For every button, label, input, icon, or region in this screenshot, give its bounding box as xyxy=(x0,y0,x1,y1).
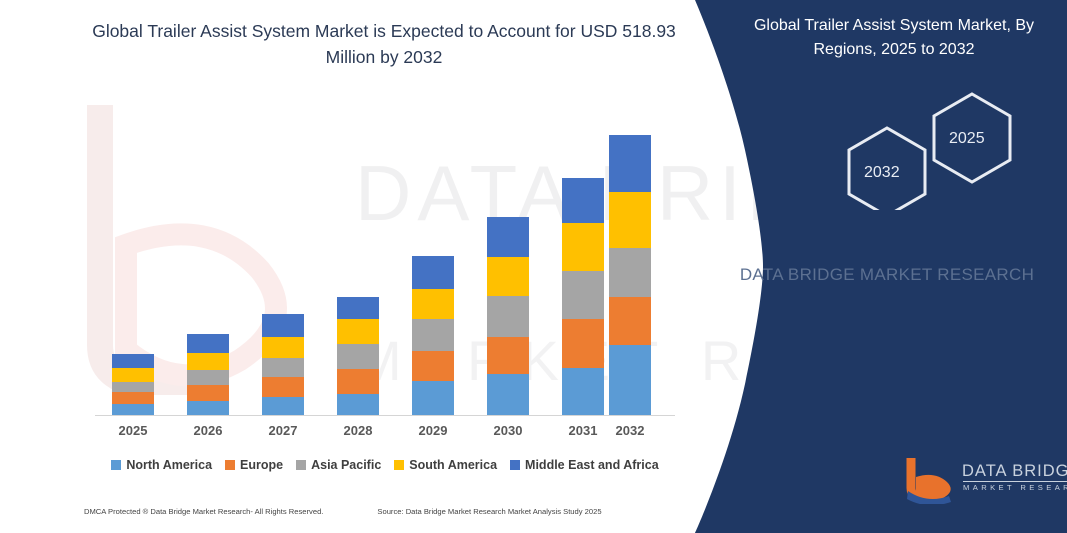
bar-segment[interactable] xyxy=(337,369,379,394)
legend-swatch xyxy=(225,460,235,470)
bar-segment[interactable] xyxy=(562,271,604,319)
bar-segment[interactable] xyxy=(112,354,154,368)
x-axis-tick: 2032 xyxy=(598,423,662,438)
bar-segment[interactable] xyxy=(187,401,229,416)
bar-segment[interactable] xyxy=(262,314,304,337)
bar-segment[interactable] xyxy=(262,337,304,358)
bar-segment[interactable] xyxy=(262,397,304,416)
legend-label: South America xyxy=(409,458,497,472)
legend-swatch xyxy=(296,460,306,470)
bar-segment[interactable] xyxy=(187,334,229,353)
logo-subtitle: MARKET RESEARCH xyxy=(963,483,1067,492)
bar-segment[interactable] xyxy=(562,319,604,368)
bar-segment[interactable] xyxy=(412,319,454,351)
bar-segment[interactable] xyxy=(262,358,304,377)
x-axis-labels: 20252026202720282029203020312032 xyxy=(95,423,675,445)
bar-segment[interactable] xyxy=(337,297,379,319)
bar-segment[interactable] xyxy=(609,135,651,192)
x-axis-tick: 2027 xyxy=(251,423,315,438)
bar-segment[interactable] xyxy=(262,377,304,397)
panel-title: Global Trailer Assist System Market, By … xyxy=(735,14,1053,62)
footer-copyright: DMCA Protected ® Data Bridge Market Rese… xyxy=(84,507,323,516)
bar-segment[interactable] xyxy=(337,344,379,369)
bar-group[interactable] xyxy=(187,334,229,416)
bar-group[interactable] xyxy=(562,178,604,416)
bar-segment[interactable] xyxy=(609,248,651,297)
dbmr-b-logo-icon xyxy=(905,458,959,504)
bar-segment[interactable] xyxy=(562,178,604,223)
bar-segment[interactable] xyxy=(562,223,604,271)
footer: DMCA Protected ® Data Bridge Market Rese… xyxy=(84,507,684,516)
x-axis-tick: 2026 xyxy=(176,423,240,438)
hexagon-graphic: 2025 2032 xyxy=(767,90,1057,210)
bar-group[interactable] xyxy=(487,217,529,416)
bar-segment[interactable] xyxy=(412,351,454,381)
bar-segment[interactable] xyxy=(609,297,651,345)
bar-group[interactable] xyxy=(412,256,454,416)
bar-group[interactable] xyxy=(262,314,304,416)
x-axis-tick: 2025 xyxy=(101,423,165,438)
right-panel: Global Trailer Assist System Market, By … xyxy=(707,0,1067,533)
hexagons-icon xyxy=(767,90,1057,210)
bar-segment[interactable] xyxy=(487,257,529,296)
x-axis-tick: 2028 xyxy=(326,423,390,438)
legend-item[interactable]: South America xyxy=(394,458,497,472)
dbmr-logo: DATA BRIDGE MARKET RESEARCH xyxy=(905,458,1067,506)
legend-item[interactable]: North America xyxy=(111,458,212,472)
bar-segment[interactable] xyxy=(187,370,229,385)
bar-segment[interactable] xyxy=(609,192,651,248)
chart-title: Global Trailer Assist System Market is E… xyxy=(84,18,684,71)
legend-label: Asia Pacific xyxy=(311,458,381,472)
bar-segment[interactable] xyxy=(487,296,529,337)
legend-item[interactable]: Europe xyxy=(225,458,283,472)
logo-divider xyxy=(963,481,1067,482)
legend-label: Middle East and Africa xyxy=(525,458,659,472)
legend-swatch xyxy=(394,460,404,470)
legend-label: Europe xyxy=(240,458,283,472)
x-axis-tick: 2030 xyxy=(476,423,540,438)
bar-segment[interactable] xyxy=(337,394,379,416)
bar-segment[interactable] xyxy=(187,385,229,401)
legend-swatch xyxy=(111,460,121,470)
bar-group[interactable] xyxy=(609,135,651,416)
hexagon-label-start: 2025 xyxy=(949,130,985,148)
bar-group[interactable] xyxy=(337,297,379,416)
bar-group[interactable] xyxy=(112,354,154,416)
hexagon-label-end: 2032 xyxy=(864,164,900,182)
legend-swatch xyxy=(510,460,520,470)
infographic-root: DATA BRIDGE MARKET RESEARCH Global Trail… xyxy=(0,0,1067,533)
bar-segment[interactable] xyxy=(337,319,379,344)
bar-segment[interactable] xyxy=(187,353,229,370)
bar-segment[interactable] xyxy=(487,337,529,374)
bar-segment[interactable] xyxy=(609,345,651,416)
bar-segment[interactable] xyxy=(412,289,454,319)
brand-text: DATA BRIDGE MARKET RESEARCH xyxy=(727,262,1047,288)
chart-legend: North AmericaEuropeAsia PacificSouth Ame… xyxy=(95,455,675,475)
bar-segment[interactable] xyxy=(562,368,604,416)
chart-plot-area xyxy=(95,120,675,416)
chart-baseline xyxy=(95,415,675,416)
legend-label: North America xyxy=(126,458,212,472)
x-axis-tick: 2029 xyxy=(401,423,465,438)
bar-segment[interactable] xyxy=(112,392,154,404)
logo-name: DATA BRIDGE xyxy=(962,462,1067,481)
legend-item[interactable]: Asia Pacific xyxy=(296,458,381,472)
bar-segment[interactable] xyxy=(112,382,154,392)
bar-segment[interactable] xyxy=(112,368,154,382)
bar-segment[interactable] xyxy=(412,256,454,289)
footer-source: Source: Data Bridge Market Research Mark… xyxy=(377,507,601,516)
legend-item[interactable]: Middle East and Africa xyxy=(510,458,659,472)
bar-segment[interactable] xyxy=(412,381,454,416)
bar-segment[interactable] xyxy=(487,217,529,257)
bar-segment[interactable] xyxy=(487,374,529,416)
